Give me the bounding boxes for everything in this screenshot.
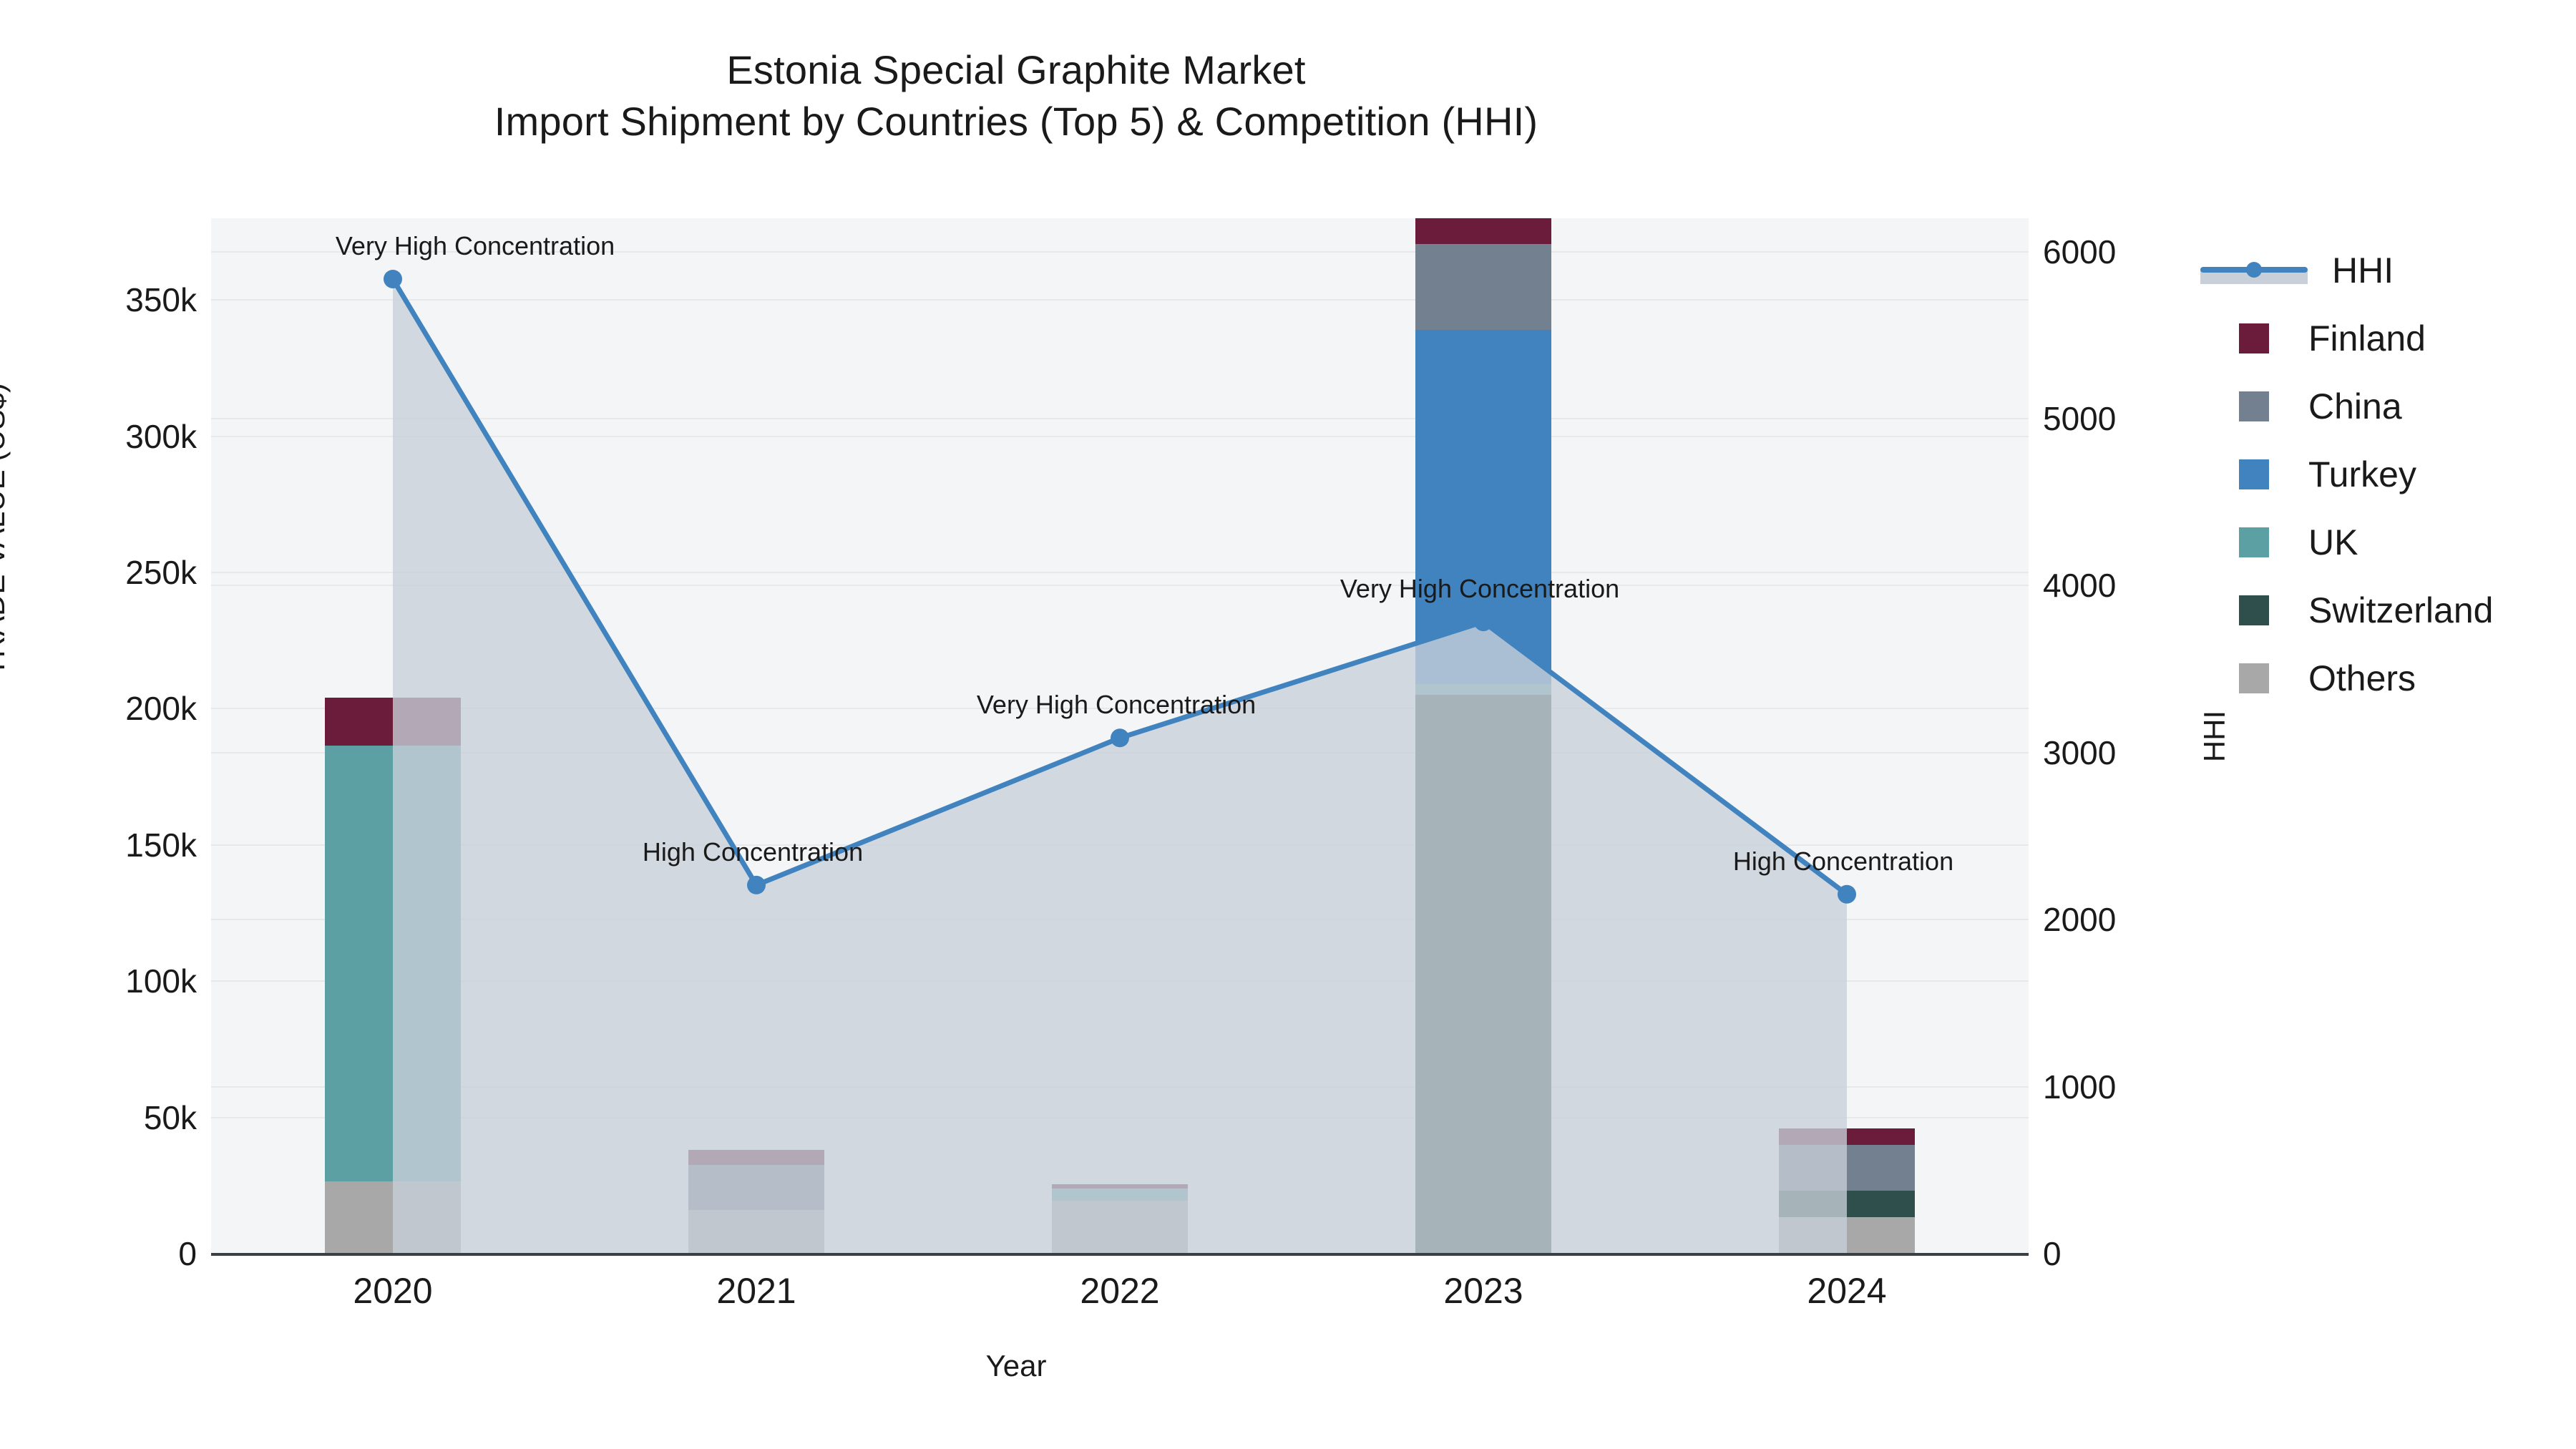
- legend-swatch-turkey: [2239, 459, 2269, 489]
- y-tick-left-100k: 100k: [125, 962, 197, 1000]
- bar-segment-finland-2022[interactable]: [1052, 1184, 1188, 1189]
- chart-root: Estonia Special Graphite Market Import S…: [0, 0, 2576, 1449]
- annotation-2022: Very High Concentration: [977, 690, 1256, 720]
- y-tick-left-0: 0: [178, 1234, 197, 1273]
- bar-stack-2020[interactable]: [325, 218, 461, 1254]
- annotation-2024: High Concentration: [1733, 847, 1953, 877]
- x-axis-title: Year: [0, 1349, 2032, 1383]
- title-line-1: Estonia Special Graphite Market: [0, 44, 2032, 96]
- chart-legend: HHIFinlandChinaTurkeyUKSwitzerlandOthers: [2200, 236, 2493, 712]
- x-tick-2024: 2024: [1807, 1270, 1886, 1312]
- legend-label-switzerland: Switzerland: [2308, 590, 2493, 631]
- bar-segment-others-2021[interactable]: [688, 1210, 824, 1254]
- plot-area: [211, 218, 2029, 1254]
- bar-segment-uk-2022[interactable]: [1052, 1189, 1188, 1201]
- x-tick-2021: 2021: [716, 1270, 796, 1312]
- bar-segment-china-2021[interactable]: [688, 1165, 824, 1210]
- bar-segment-china-2024[interactable]: [1779, 1145, 1915, 1191]
- y-tick-left-200k: 200k: [125, 689, 197, 728]
- bar-segment-finland-2023[interactable]: [1415, 218, 1551, 244]
- legend-item-finland[interactable]: Finland: [2200, 304, 2493, 372]
- y-tick-right-5000: 5000: [2043, 399, 2116, 438]
- bar-segment-uk-2023[interactable]: [1415, 684, 1551, 695]
- x-tick-2020: 2020: [353, 1270, 432, 1312]
- bar-segment-china-2023[interactable]: [1415, 244, 1551, 330]
- bar-segment-others-2022[interactable]: [1052, 1201, 1188, 1254]
- y-tick-left-250k: 250k: [125, 553, 197, 592]
- bar-stack-2023[interactable]: [1415, 218, 1551, 1254]
- y-axis-right-ticks: 0100020003000400050006000: [2029, 218, 2215, 1254]
- bar-stack-2024[interactable]: [1779, 218, 1915, 1254]
- y-tick-right-0: 0: [2043, 1234, 2062, 1273]
- y-tick-right-6000: 6000: [2043, 233, 2116, 271]
- legend-label-china: China: [2308, 386, 2402, 427]
- bar-stack-2022[interactable]: [1052, 218, 1188, 1254]
- y-tick-left-350k: 350k: [125, 280, 197, 319]
- bar-segment-others-2020[interactable]: [325, 1181, 461, 1254]
- bar-segment-turkey-2023[interactable]: [1415, 330, 1551, 684]
- legend-swatch-china: [2239, 391, 2269, 421]
- y-tick-left-50k: 50k: [144, 1098, 197, 1137]
- bar-segment-uk-2020[interactable]: [325, 746, 461, 1181]
- bar-segment-finland-2024[interactable]: [1779, 1128, 1915, 1145]
- bar-segment-switzerland-2023[interactable]: [1415, 695, 1551, 1254]
- legend-swatch-uk: [2239, 527, 2269, 557]
- legend-item-switzerland[interactable]: Switzerland: [2200, 576, 2493, 644]
- y-tick-right-3000: 3000: [2043, 733, 2116, 772]
- y-axis-left-ticks: 050k100k150k200k250k300k350k: [0, 218, 211, 1254]
- legend-item-china[interactable]: China: [2200, 372, 2493, 440]
- title-line-2: Import Shipment by Countries (Top 5) & C…: [0, 96, 2032, 147]
- legend-label-uk: UK: [2308, 522, 2358, 563]
- annotation-2020: Very High Concentration: [336, 231, 615, 261]
- legend-label-hhi: HHI: [2332, 250, 2394, 291]
- annotation-2023: Very High Concentration: [1340, 574, 1619, 604]
- legend-label-turkey: Turkey: [2308, 454, 2416, 495]
- y-tick-right-1000: 1000: [2043, 1068, 2116, 1106]
- legend-line-key-icon: [2200, 255, 2308, 286]
- y-tick-right-2000: 2000: [2043, 900, 2116, 939]
- bar-segment-switzerland-2024[interactable]: [1779, 1191, 1915, 1216]
- x-tick-2022: 2022: [1080, 1270, 1159, 1312]
- y-tick-left-150k: 150k: [125, 826, 197, 864]
- legend-label-others: Others: [2308, 658, 2416, 699]
- bar-stack-2021[interactable]: [688, 218, 824, 1254]
- y-axis-left-title: TRADE VALUE (US$): [0, 383, 11, 676]
- y-tick-left-300k: 300k: [125, 417, 197, 456]
- bar-segment-finland-2020[interactable]: [325, 698, 461, 746]
- legend-marker-dot: [2246, 262, 2262, 278]
- y-tick-right-4000: 4000: [2043, 566, 2116, 605]
- x-tick-2023: 2023: [1443, 1270, 1523, 1312]
- bar-segment-finland-2021[interactable]: [688, 1150, 824, 1165]
- legend-item-hhi[interactable]: HHI: [2200, 236, 2493, 304]
- legend-swatch-switzerland: [2239, 595, 2269, 625]
- legend-swatch-finland: [2239, 323, 2269, 353]
- legend-label-finland: Finland: [2308, 318, 2426, 359]
- legend-item-turkey[interactable]: Turkey: [2200, 440, 2493, 508]
- x-axis-line: [211, 1253, 2029, 1256]
- legend-swatch-others: [2239, 663, 2269, 693]
- legend-item-uk[interactable]: UK: [2200, 508, 2493, 576]
- annotation-2021: High Concentration: [643, 837, 863, 867]
- y-axis-right-title: HHI: [2197, 710, 2232, 761]
- chart-title: Estonia Special Graphite Market Import S…: [0, 44, 2032, 147]
- bar-segment-others-2024[interactable]: [1779, 1217, 1915, 1254]
- legend-item-others[interactable]: Others: [2200, 644, 2493, 712]
